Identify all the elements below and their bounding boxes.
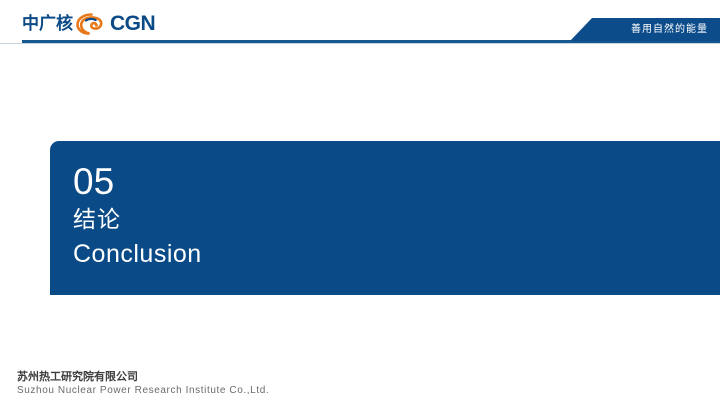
footer-company-english: Suzhou Nuclear Power Research Institute …	[17, 384, 517, 397]
presentation-slide: 中广核 CGN 善用自然的能量 05 结论 Conclusion	[0, 0, 720, 405]
cgn-swirl-icon	[75, 12, 109, 36]
section-divider-panel: 05 结论 Conclusion	[50, 141, 720, 295]
cgn-logo: 中广核 CGN	[22, 11, 155, 37]
header-divider-shadow	[0, 43, 720, 44]
section-title-english: Conclusion	[73, 240, 202, 268]
section-title-chinese: 结论	[73, 207, 121, 233]
slide-header: 中广核 CGN 善用自然的能量	[0, 0, 720, 48]
section-number: 05	[73, 163, 114, 200]
logo-chinese-text: 中广核	[22, 14, 73, 34]
logo-english-text: CGN	[110, 13, 155, 35]
tagline-banner: 善用自然的能量	[570, 18, 720, 41]
slide-footer: 苏州热工研究院有限公司 Suzhou Nuclear Power Researc…	[17, 370, 517, 397]
footer-company-chinese: 苏州热工研究院有限公司	[17, 370, 517, 384]
tagline-text: 善用自然的能量	[631, 18, 708, 41]
